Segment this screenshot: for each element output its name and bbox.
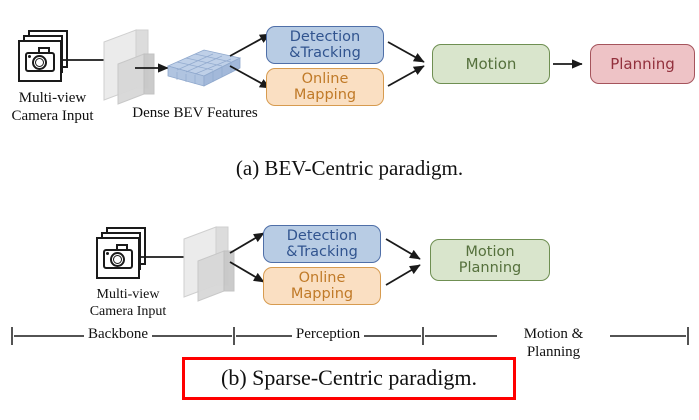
block-detection-tracking[interactable]: Detection &Tracking [266,26,384,64]
stage-label-motion-planning: Motion & Planning [497,325,610,361]
panel-a: Detection &Tracking Online Mapping Motio… [0,0,699,150]
block-motion-planning[interactable]: Motion Planning [430,239,550,281]
block-online-mapping[interactable]: Online Mapping [266,68,384,106]
block-detection-tracking[interactable]: Detection &Tracking [263,225,381,263]
panel-a-input-label: Multi-view Camera Input [0,89,105,125]
camera-flash-dot [28,55,31,58]
mapping-to-motion-arrow [388,62,436,90]
block-online-mapping[interactable]: Online Mapping [263,267,381,305]
mapping-to-motion-planning-arrow [386,261,432,289]
camera-lens-inner [35,58,44,67]
stage-label-backbone: Backbone [84,325,152,343]
panel-b-caption: (b) Sparse-Centric paradigm. [182,365,516,391]
panel-a-caption: (a) BEV-Centric paradigm. [0,156,699,181]
block-motion[interactable]: Motion [432,44,550,84]
stage-label-perception: Perception [292,325,364,343]
panel-b-input-label: Multi-view Camera Input [74,287,182,321]
block-planning[interactable]: Planning [590,44,695,84]
camera-flash-dot [106,252,109,255]
motion-to-planning-arrow [553,57,591,71]
camera-lens-inner [113,255,122,264]
figure-root: Detection &Tracking Online Mapping Motio… [0,0,699,420]
stage-bracket-row: Backbone Perception Motion & Planning [0,325,699,347]
panel-a-feature-label: Dense BEV Features [120,104,270,122]
